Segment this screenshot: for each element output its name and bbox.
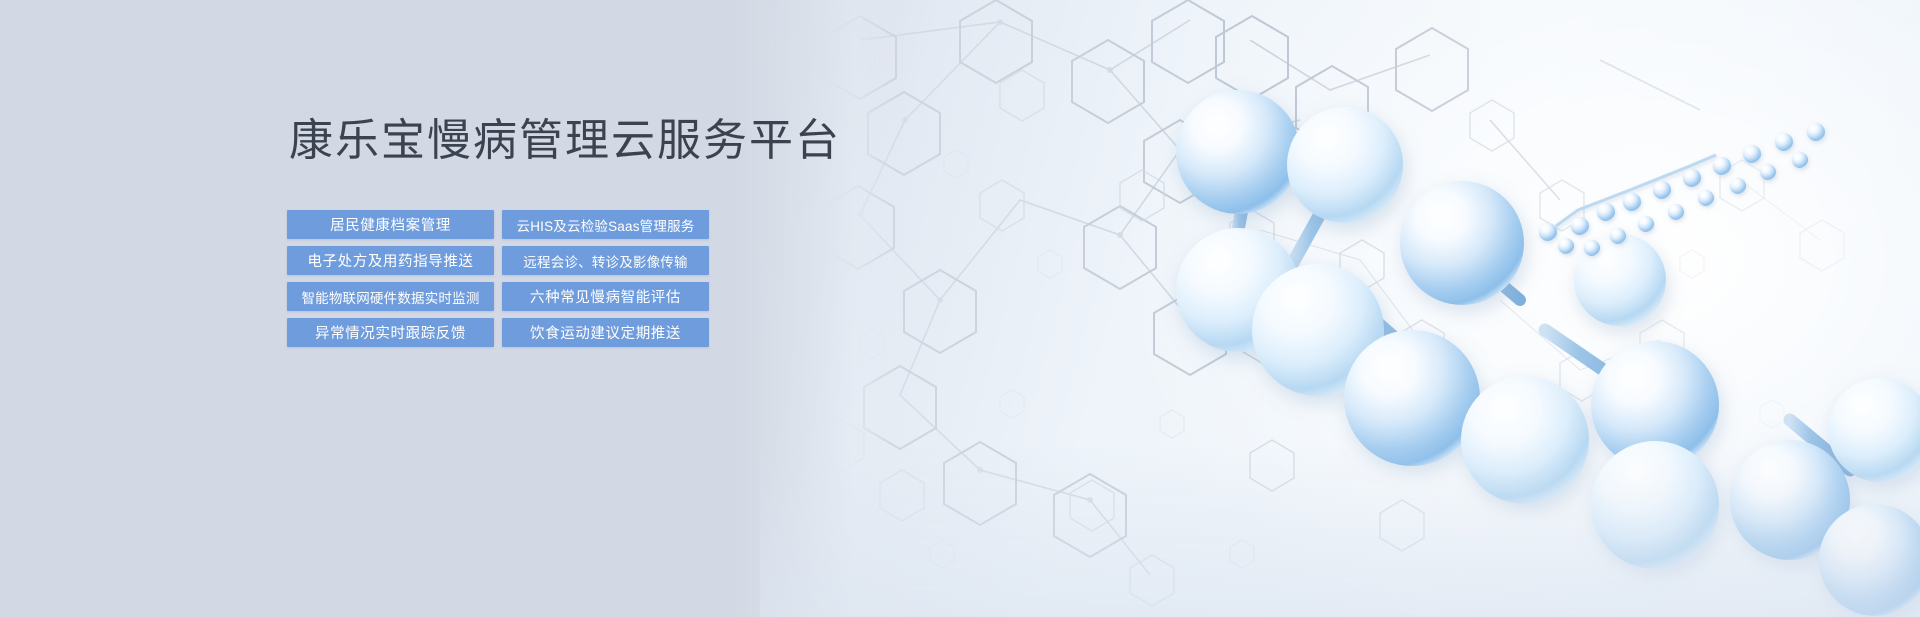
feature-pill-resident-health-record[interactable]: 居民健康档案管理 bbox=[287, 210, 494, 239]
feature-pill-cloud-his-lab-saas[interactable]: 云HIS及云检验Saas管理服务 bbox=[502, 210, 709, 239]
feature-pill-six-chronic-assessment[interactable]: 六种常见慢病智能评估 bbox=[502, 282, 709, 311]
feature-pill-remote-consultation[interactable]: 远程会诊、转诊及影像传输 bbox=[502, 246, 709, 275]
page-title: 康乐宝慢病管理云服务平台 bbox=[289, 112, 717, 170]
hero-banner: 康乐宝慢病管理云服务平台 居民健康档案管理 云HIS及云检验Saas管理服务 电… bbox=[0, 0, 1920, 617]
feature-pill-abnormal-tracking[interactable]: 异常情况实时跟踪反馈 bbox=[287, 318, 494, 347]
background-bottom-fade bbox=[760, 447, 1920, 617]
banner-content: 康乐宝慢病管理云服务平台 居民健康档案管理 云HIS及云检验Saas管理服务 电… bbox=[287, 112, 717, 347]
feature-pill-grid: 居民健康档案管理 云HIS及云检验Saas管理服务 电子处方及用药指导推送 远程… bbox=[287, 210, 717, 347]
feature-pill-iot-device-monitoring[interactable]: 智能物联网硬件数据实时监测 bbox=[287, 282, 494, 311]
feature-pill-diet-exercise-advice[interactable]: 饮食运动建议定期推送 bbox=[502, 318, 709, 347]
feature-pill-e-prescription-push[interactable]: 电子处方及用药指导推送 bbox=[287, 246, 494, 275]
